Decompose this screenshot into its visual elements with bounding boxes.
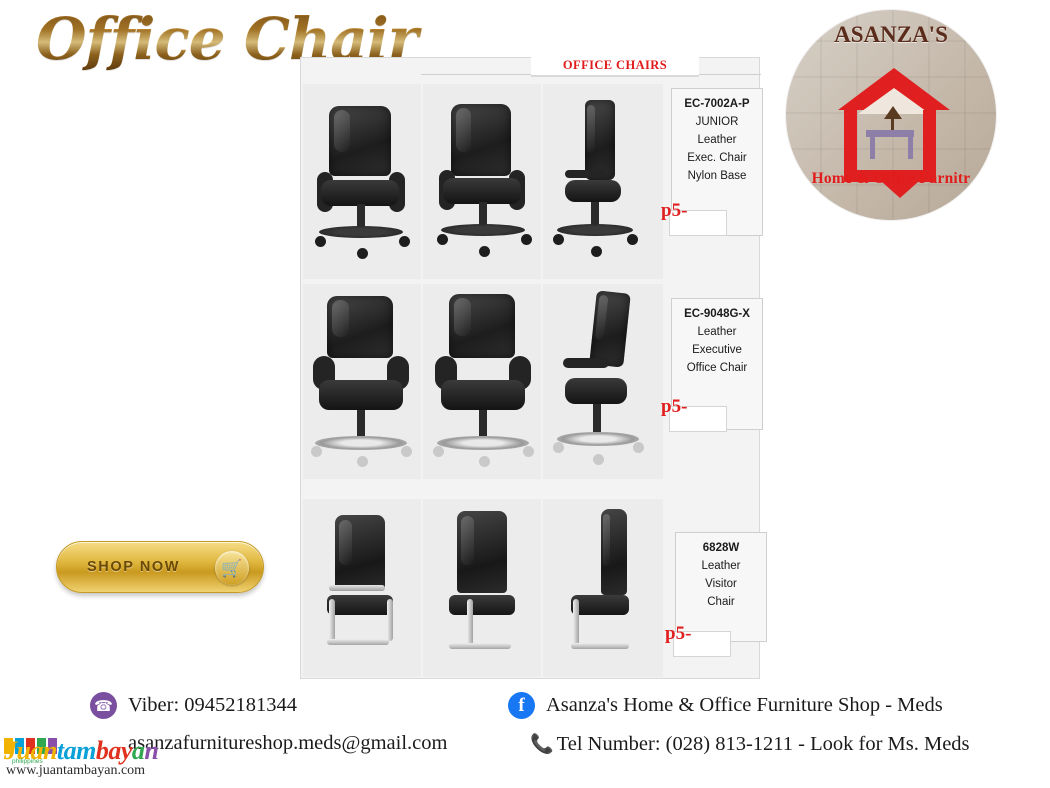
watermark-url: www.juantambayan.com [6,763,145,779]
watermark-brand-part: tam [57,736,96,765]
product-photo [303,284,421,479]
product-photo [543,499,663,677]
desk-leg [870,137,875,159]
product-line: Leather [680,557,762,575]
product-photo [543,84,663,279]
flyer-header: OFFICE CHAIRS [531,55,699,77]
contact-viber[interactable]: ☎ Viber: 09452181344 [90,692,297,719]
watermark-brand-part: a [132,736,145,765]
viber-text: Viber: 09452181344 [128,694,297,717]
product-price: p5- [661,396,687,418]
product-code: EC-7002A-P [676,95,758,113]
facebook-text: Asanza's Home & Office Furniture Shop - … [546,694,943,717]
product-price: p5- [661,200,687,222]
shop-now-button[interactable]: SHOP NOW 🛒 [56,541,264,593]
product-code: EC-9048G-X [676,305,758,323]
product-line: Executive [676,341,758,359]
watermark-brand-part: n [144,736,158,765]
product-photo [423,284,541,479]
product-price: p5- [665,623,691,645]
shop-now-label: SHOP NOW [87,559,180,575]
viber-icon: ☎ [90,692,117,719]
product-photo [423,84,541,279]
facebook-icon: f [508,692,535,719]
product-line: Chair [680,593,762,611]
phone-icon: 📞 [530,732,554,756]
shopping-cart-icon: 🛒 [215,551,249,585]
product-line: JUNIOR [676,113,758,131]
product-line: Nylon Base [676,167,758,185]
desk-lamp-icon [884,106,902,119]
desk-icon [866,130,914,137]
product-flyer: OFFICE CHAIRS [300,57,760,679]
product-line: Leather [676,131,758,149]
product-line: Leather [676,323,758,341]
product-photo [423,499,541,677]
product-line: Exec. Chair [676,149,758,167]
desk-leg [908,137,913,159]
product-photo [303,84,421,279]
product-line: Office Chair [676,359,758,377]
product-photo [303,499,421,677]
brand-logo: ASANZA'S Home & Office Furnitr [786,10,996,220]
flyer-header-label: OFFICE CHAIRS [563,58,667,73]
contact-telephone[interactable]: 📞 Tel Number: (028) 813-1211 - Look for … [530,732,970,756]
watermark: Juantambayan philippines www.juantambaya… [4,736,234,784]
telephone-text: Tel Number: (028) 813-1211 - Look for Ms… [557,733,970,756]
contact-facebook[interactable]: f Asanza's Home & Office Furniture Shop … [508,692,943,719]
product-code: 6828W [680,539,762,557]
product-line: Visitor [680,575,762,593]
product-photo [543,284,663,479]
brand-tagline: Home & Office Furnitr [786,170,996,188]
brand-name: ASANZA'S [786,22,996,48]
watermark-brand-part: bay [96,736,132,765]
